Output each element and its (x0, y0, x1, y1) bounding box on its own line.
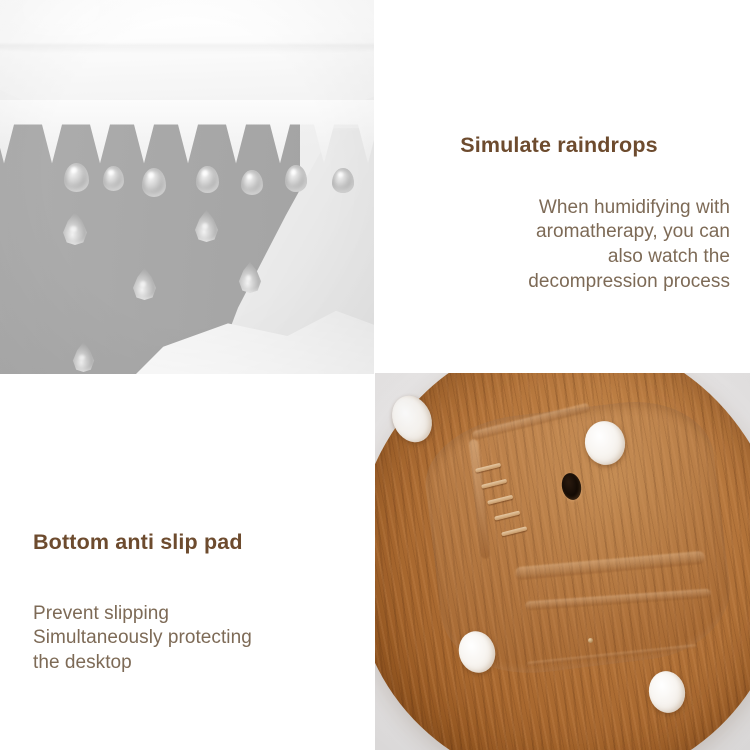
feature-body: When humidifying with aromatherapy, you … (400, 196, 730, 295)
screw-point (588, 638, 593, 643)
lid-highlight (0, 0, 136, 38)
hanging-droplet (103, 166, 124, 191)
infographic-page: Simulate raindrops When humidifying with… (0, 0, 750, 750)
anti-slip-base-photo (375, 373, 750, 750)
hanging-droplet (64, 163, 89, 192)
feature-body-line: Simultaneously protecting (33, 626, 363, 651)
feature-body-line: the desktop (33, 651, 363, 676)
feature-heading: Simulate raindrops (400, 133, 730, 159)
feature-body-line: When humidifying with (400, 196, 730, 221)
hanging-droplet (196, 166, 219, 193)
feature-body-line: decompression process (400, 270, 730, 295)
feature-heading: Bottom anti slip pad (33, 530, 363, 556)
feature-body-line: Prevent slipping (33, 602, 363, 627)
feature-body-line: aromatherapy, you can (400, 220, 730, 245)
hanging-droplet (142, 168, 166, 197)
feature-text-bottom-anti-slip-pad: Bottom anti slip pad Prevent slipping Si… (33, 530, 363, 676)
feature-text-simulate-raindrops: Simulate raindrops When humidifying with… (400, 133, 730, 295)
hanging-droplet (241, 170, 263, 195)
raindrops-photo (0, 0, 374, 374)
hanging-droplet (285, 165, 307, 192)
hanging-droplet (332, 168, 354, 193)
feature-body: Prevent slipping Simultaneously protecti… (33, 602, 363, 676)
feature-body-line: also watch the (400, 245, 730, 270)
